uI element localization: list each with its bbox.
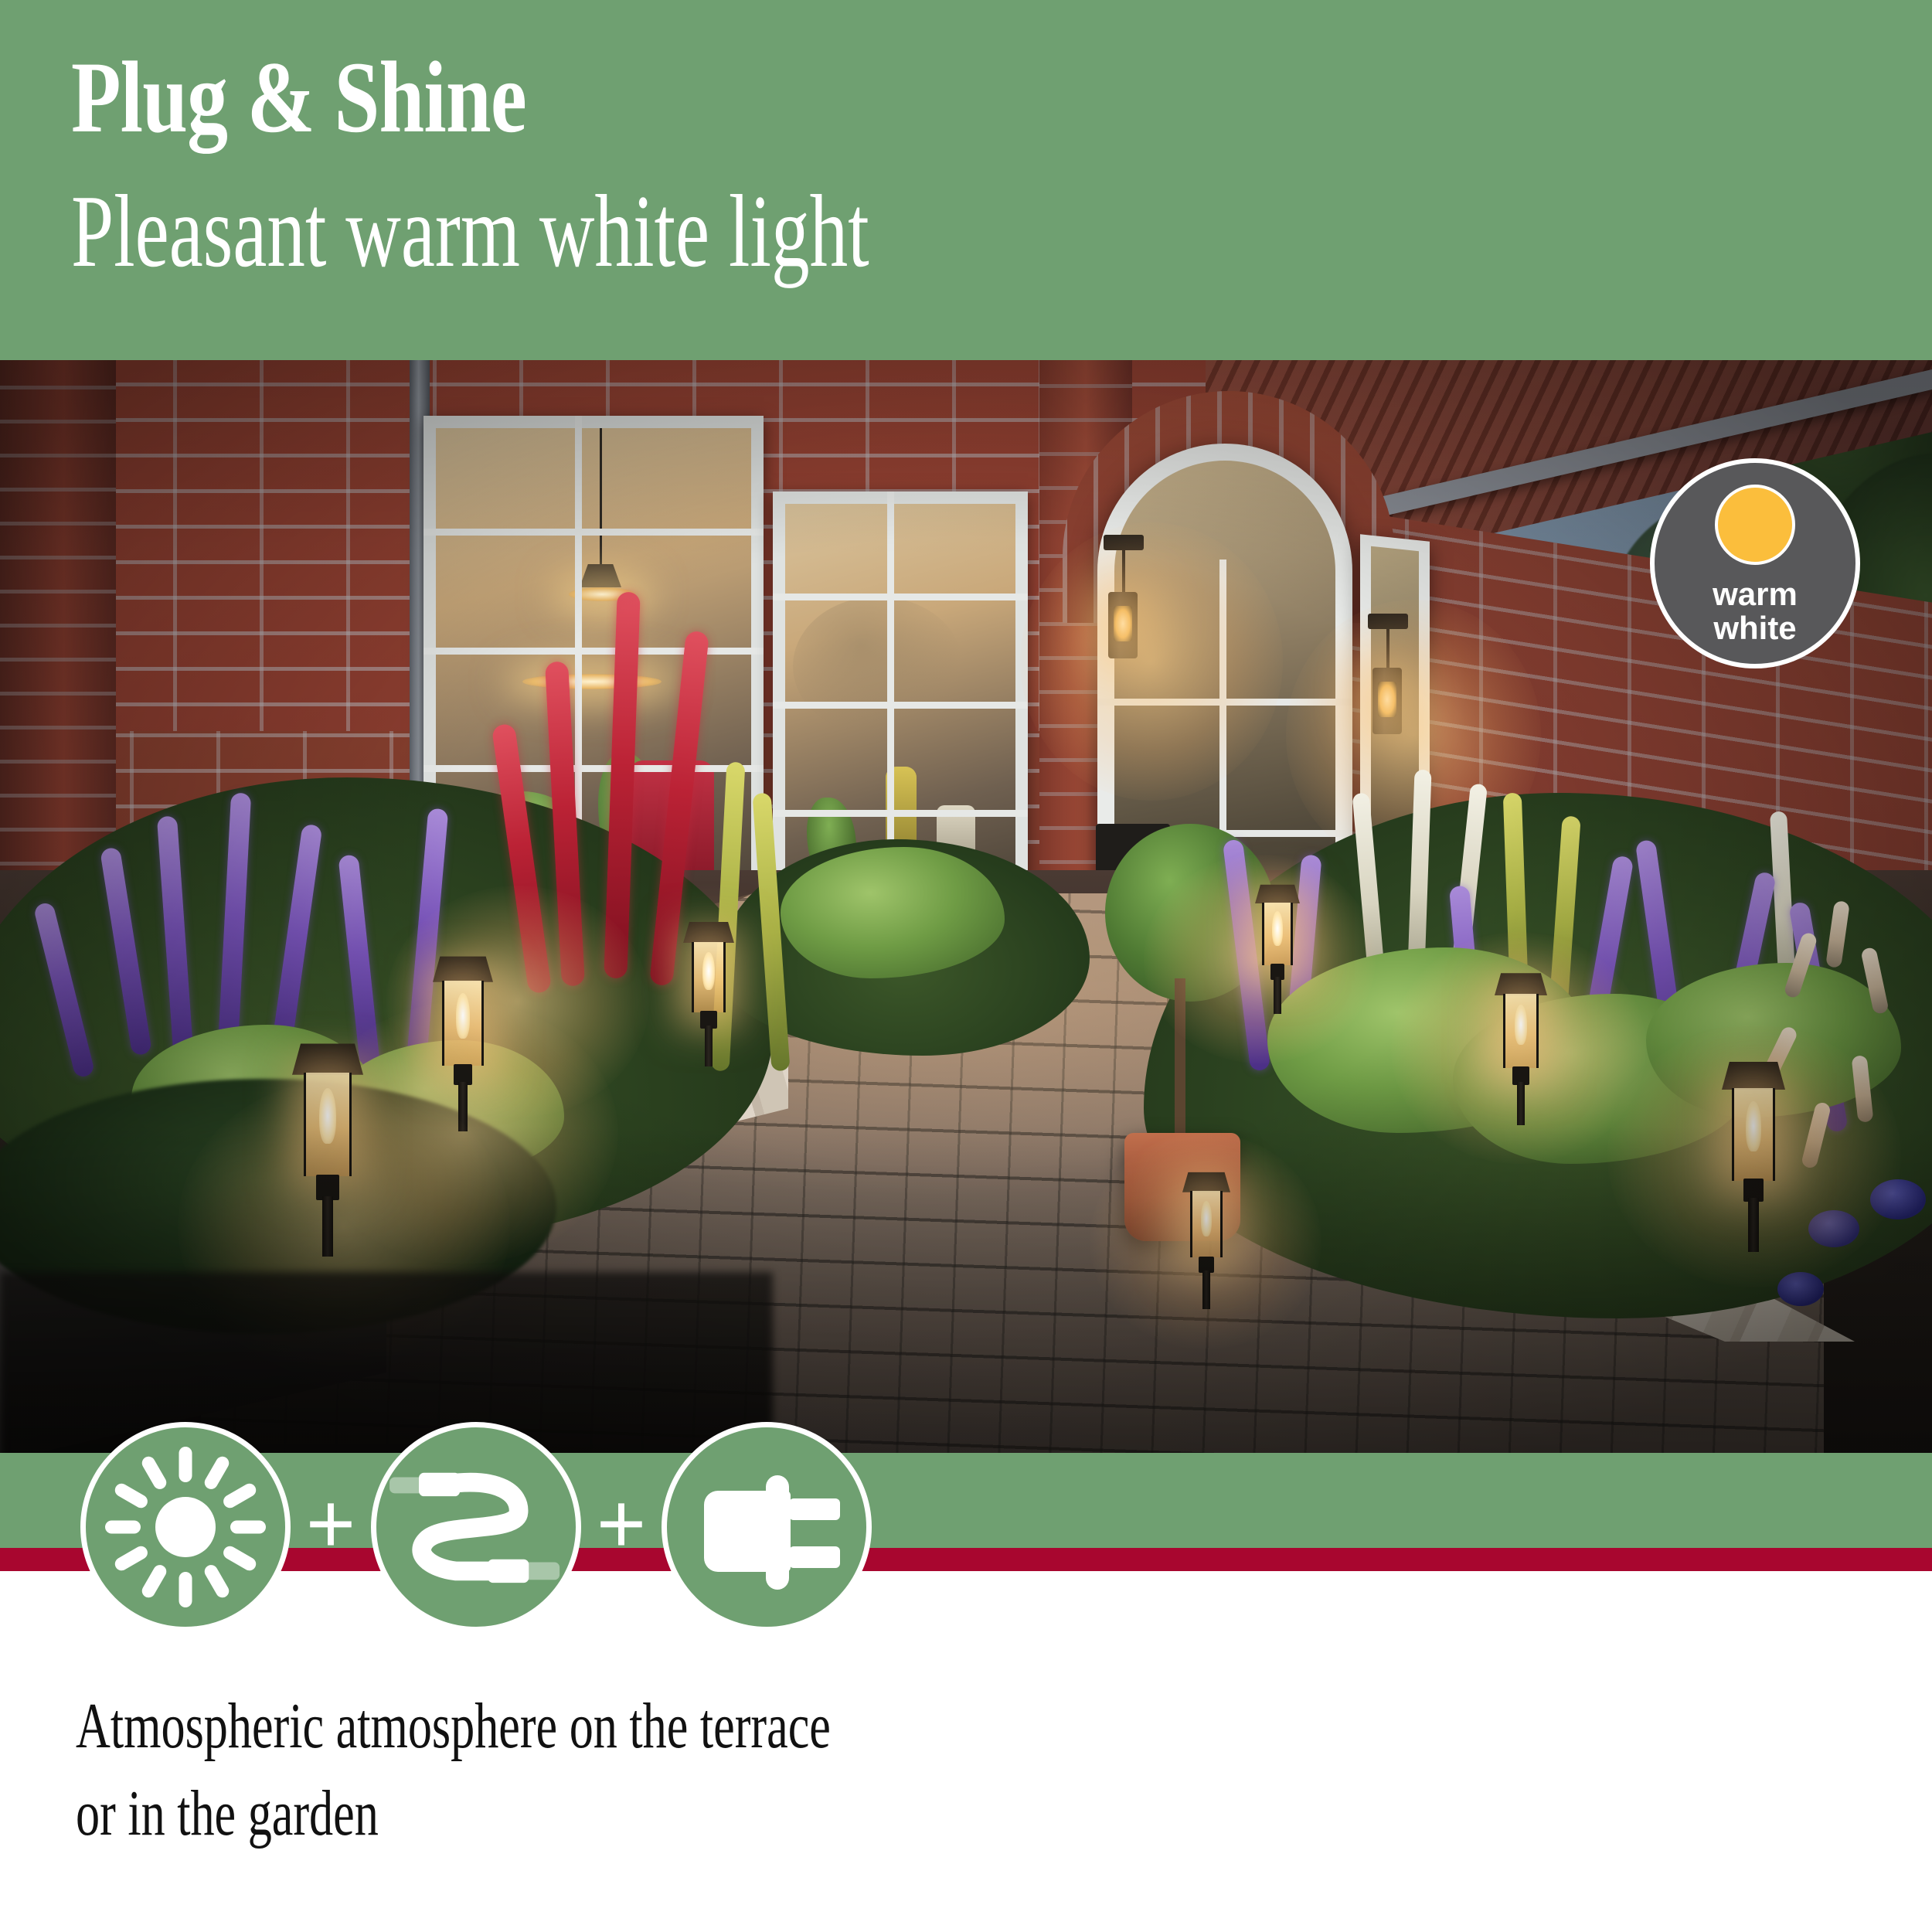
header-band: Plug & Shine Pleasant warm white light	[0, 0, 1932, 360]
plug-pin	[789, 1546, 840, 1568]
badge-label-line1: warm	[1713, 577, 1798, 611]
sun-ray	[140, 1563, 169, 1600]
caption-line1: Atmospheric atmosphere on the terrace	[76, 1683, 831, 1770]
warm-white-color-dot	[1715, 485, 1795, 565]
sun-ray	[202, 1563, 232, 1600]
sun-core	[155, 1497, 216, 1557]
sun-ray	[105, 1521, 141, 1534]
caption-line2: or in the garden	[76, 1770, 831, 1858]
badge-label-line2: white	[1713, 611, 1798, 645]
plug-icon	[662, 1422, 872, 1632]
caption-text: Atmospheric atmosphere on the terrace or…	[76, 1683, 831, 1857]
feature-icon-row: + +	[80, 1422, 872, 1632]
sun-ray	[113, 1481, 150, 1511]
page-title: Plug & Shine	[71, 46, 526, 148]
plus-separator: +	[581, 1481, 662, 1566]
plus-separator: +	[291, 1481, 371, 1566]
sun-ray	[179, 1572, 192, 1607]
hero-photo	[0, 360, 1932, 1453]
sun-icon	[80, 1422, 291, 1632]
sun-ray	[230, 1521, 266, 1534]
sun-ray	[113, 1544, 150, 1573]
sun-ray	[221, 1481, 258, 1511]
sun-ray	[221, 1544, 258, 1573]
sun-ray	[140, 1454, 169, 1492]
page-subtitle: Pleasant warm white light	[71, 179, 869, 283]
sun-ray	[179, 1447, 192, 1482]
sun-ray	[202, 1454, 232, 1492]
badge-label: warm white	[1713, 577, 1798, 645]
cable-icon	[371, 1422, 581, 1632]
cable-icon-graphic	[376, 1427, 576, 1627]
plug-collar	[766, 1475, 789, 1590]
plug-pin	[789, 1498, 840, 1520]
warm-white-badge: warm white	[1650, 458, 1860, 668]
photo-vignette	[0, 360, 1932, 1453]
